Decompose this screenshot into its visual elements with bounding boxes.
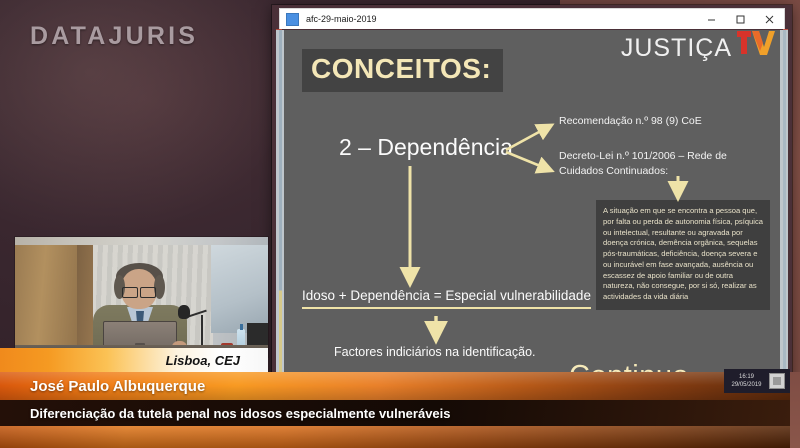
clock-time: 16:19	[724, 373, 769, 381]
taskbar-clock[interactable]: 16:19 29/05/2019	[724, 369, 790, 393]
broadcast-screen: DATAJURIS afc-29-maio-2019	[0, 0, 800, 448]
slide-viewport: JUSTIÇA CONCEITOS: 2 – Dependência Recom…	[276, 30, 788, 382]
clock-date: 29/05/2019	[724, 381, 769, 389]
justica-tv-logo: JUSTIÇA	[621, 30, 774, 63]
close-icon[interactable]	[755, 9, 784, 29]
clock-time-date: 16:19 29/05/2019	[724, 373, 769, 389]
video-wood-panel-edge	[77, 245, 93, 357]
slide-canvas: JUSTIÇA CONCEITOS: 2 – Dependência Recom…	[284, 30, 780, 382]
video-window-light	[211, 245, 268, 333]
maximize-icon[interactable]	[726, 9, 755, 29]
slide-right-edge[interactable]	[783, 30, 786, 382]
speaker-name-banner: José Paulo Albuquerque	[0, 372, 790, 400]
window-controls	[697, 9, 784, 29]
talk-title: Diferenciação da tutela penal nos idosos…	[0, 406, 451, 421]
slide-definition-box: A situação em que se encontra a pessoa q…	[596, 200, 770, 310]
talk-title-banner: Diferenciação da tutela penal nos idosos…	[0, 400, 790, 426]
tray-app-icon[interactable]	[769, 373, 785, 389]
video-speaker-glasses	[122, 287, 156, 296]
slide-branch-recommendation: Recomendação n.º 98 (9) CoE	[559, 115, 702, 127]
slide-heading: CONCEITOS:	[302, 49, 503, 92]
video-microphone-head	[178, 305, 190, 319]
minimize-icon[interactable]	[697, 9, 726, 29]
slide-conclusion: Factores indiciários na identificação.	[334, 345, 536, 359]
bottom-right-filler	[790, 372, 800, 448]
location-label: Lisboa, CEJ	[166, 353, 268, 368]
slide-equation: Idoso + Dependência = Especial vulnerabi…	[302, 288, 591, 309]
location-banner: Lisboa, CEJ	[0, 348, 268, 372]
window-title: afc-29-maio-2019	[306, 14, 697, 24]
speaker-name: José Paulo Albuquerque	[0, 378, 205, 395]
bottom-accent-bar	[0, 426, 790, 448]
justica-tv-mark-icon	[734, 30, 774, 56]
window-titlebar[interactable]: afc-29-maio-2019	[279, 8, 785, 29]
slide-topic: 2 – Dependência	[339, 134, 513, 161]
presentation-window: afc-29-maio-2019 JUSTIÇA	[272, 5, 792, 386]
slide-branch-decree: Decreto-Lei n.º 101/2006 – Rede de Cuida…	[559, 149, 774, 179]
justica-logo-word: JUSTIÇA	[621, 34, 732, 63]
slide-left-edge	[279, 30, 282, 382]
speaker-video-feed	[15, 237, 268, 357]
video-wood-panel	[15, 245, 83, 357]
datajuris-watermark: DATAJURIS	[30, 22, 198, 51]
presentation-app-icon	[286, 13, 299, 26]
